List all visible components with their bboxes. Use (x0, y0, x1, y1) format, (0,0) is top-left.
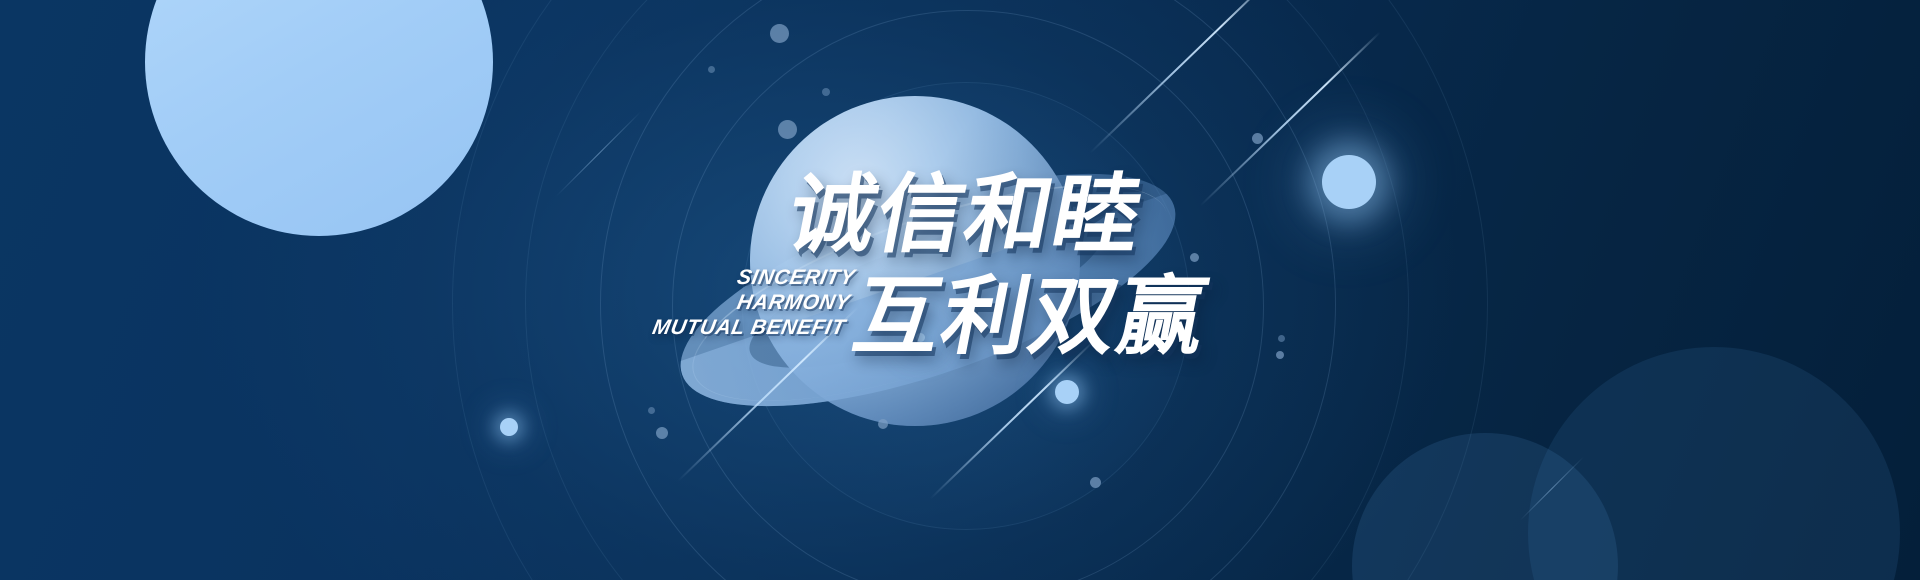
node-top-a-icon (770, 24, 789, 43)
node-right-c-icon (1276, 351, 1284, 359)
node-left-a-icon (648, 407, 655, 414)
node-top-b-icon (778, 120, 797, 139)
hero-banner: SINCERITY HARMONY MUTUAL BENEFIT 诚信和睦 互利… (0, 0, 1920, 580)
node-right-a-icon (1190, 253, 1199, 262)
node-right-b-icon (1278, 335, 1285, 342)
star-right-glow-icon (1322, 155, 1376, 209)
node-arc-tiny-icon (822, 88, 830, 96)
node-planet-br-icon (878, 419, 888, 429)
planet-graphic (710, 78, 1130, 498)
star-left-small-icon (500, 418, 518, 436)
node-left-b-icon (656, 427, 668, 439)
star-mid-tiny-icon (916, 333, 925, 342)
star-planet-lower-icon (1055, 380, 1079, 404)
node-lower-mid-icon (1090, 477, 1101, 488)
node-streak-icon (1252, 133, 1263, 144)
node-top-tiny-icon (708, 66, 715, 73)
